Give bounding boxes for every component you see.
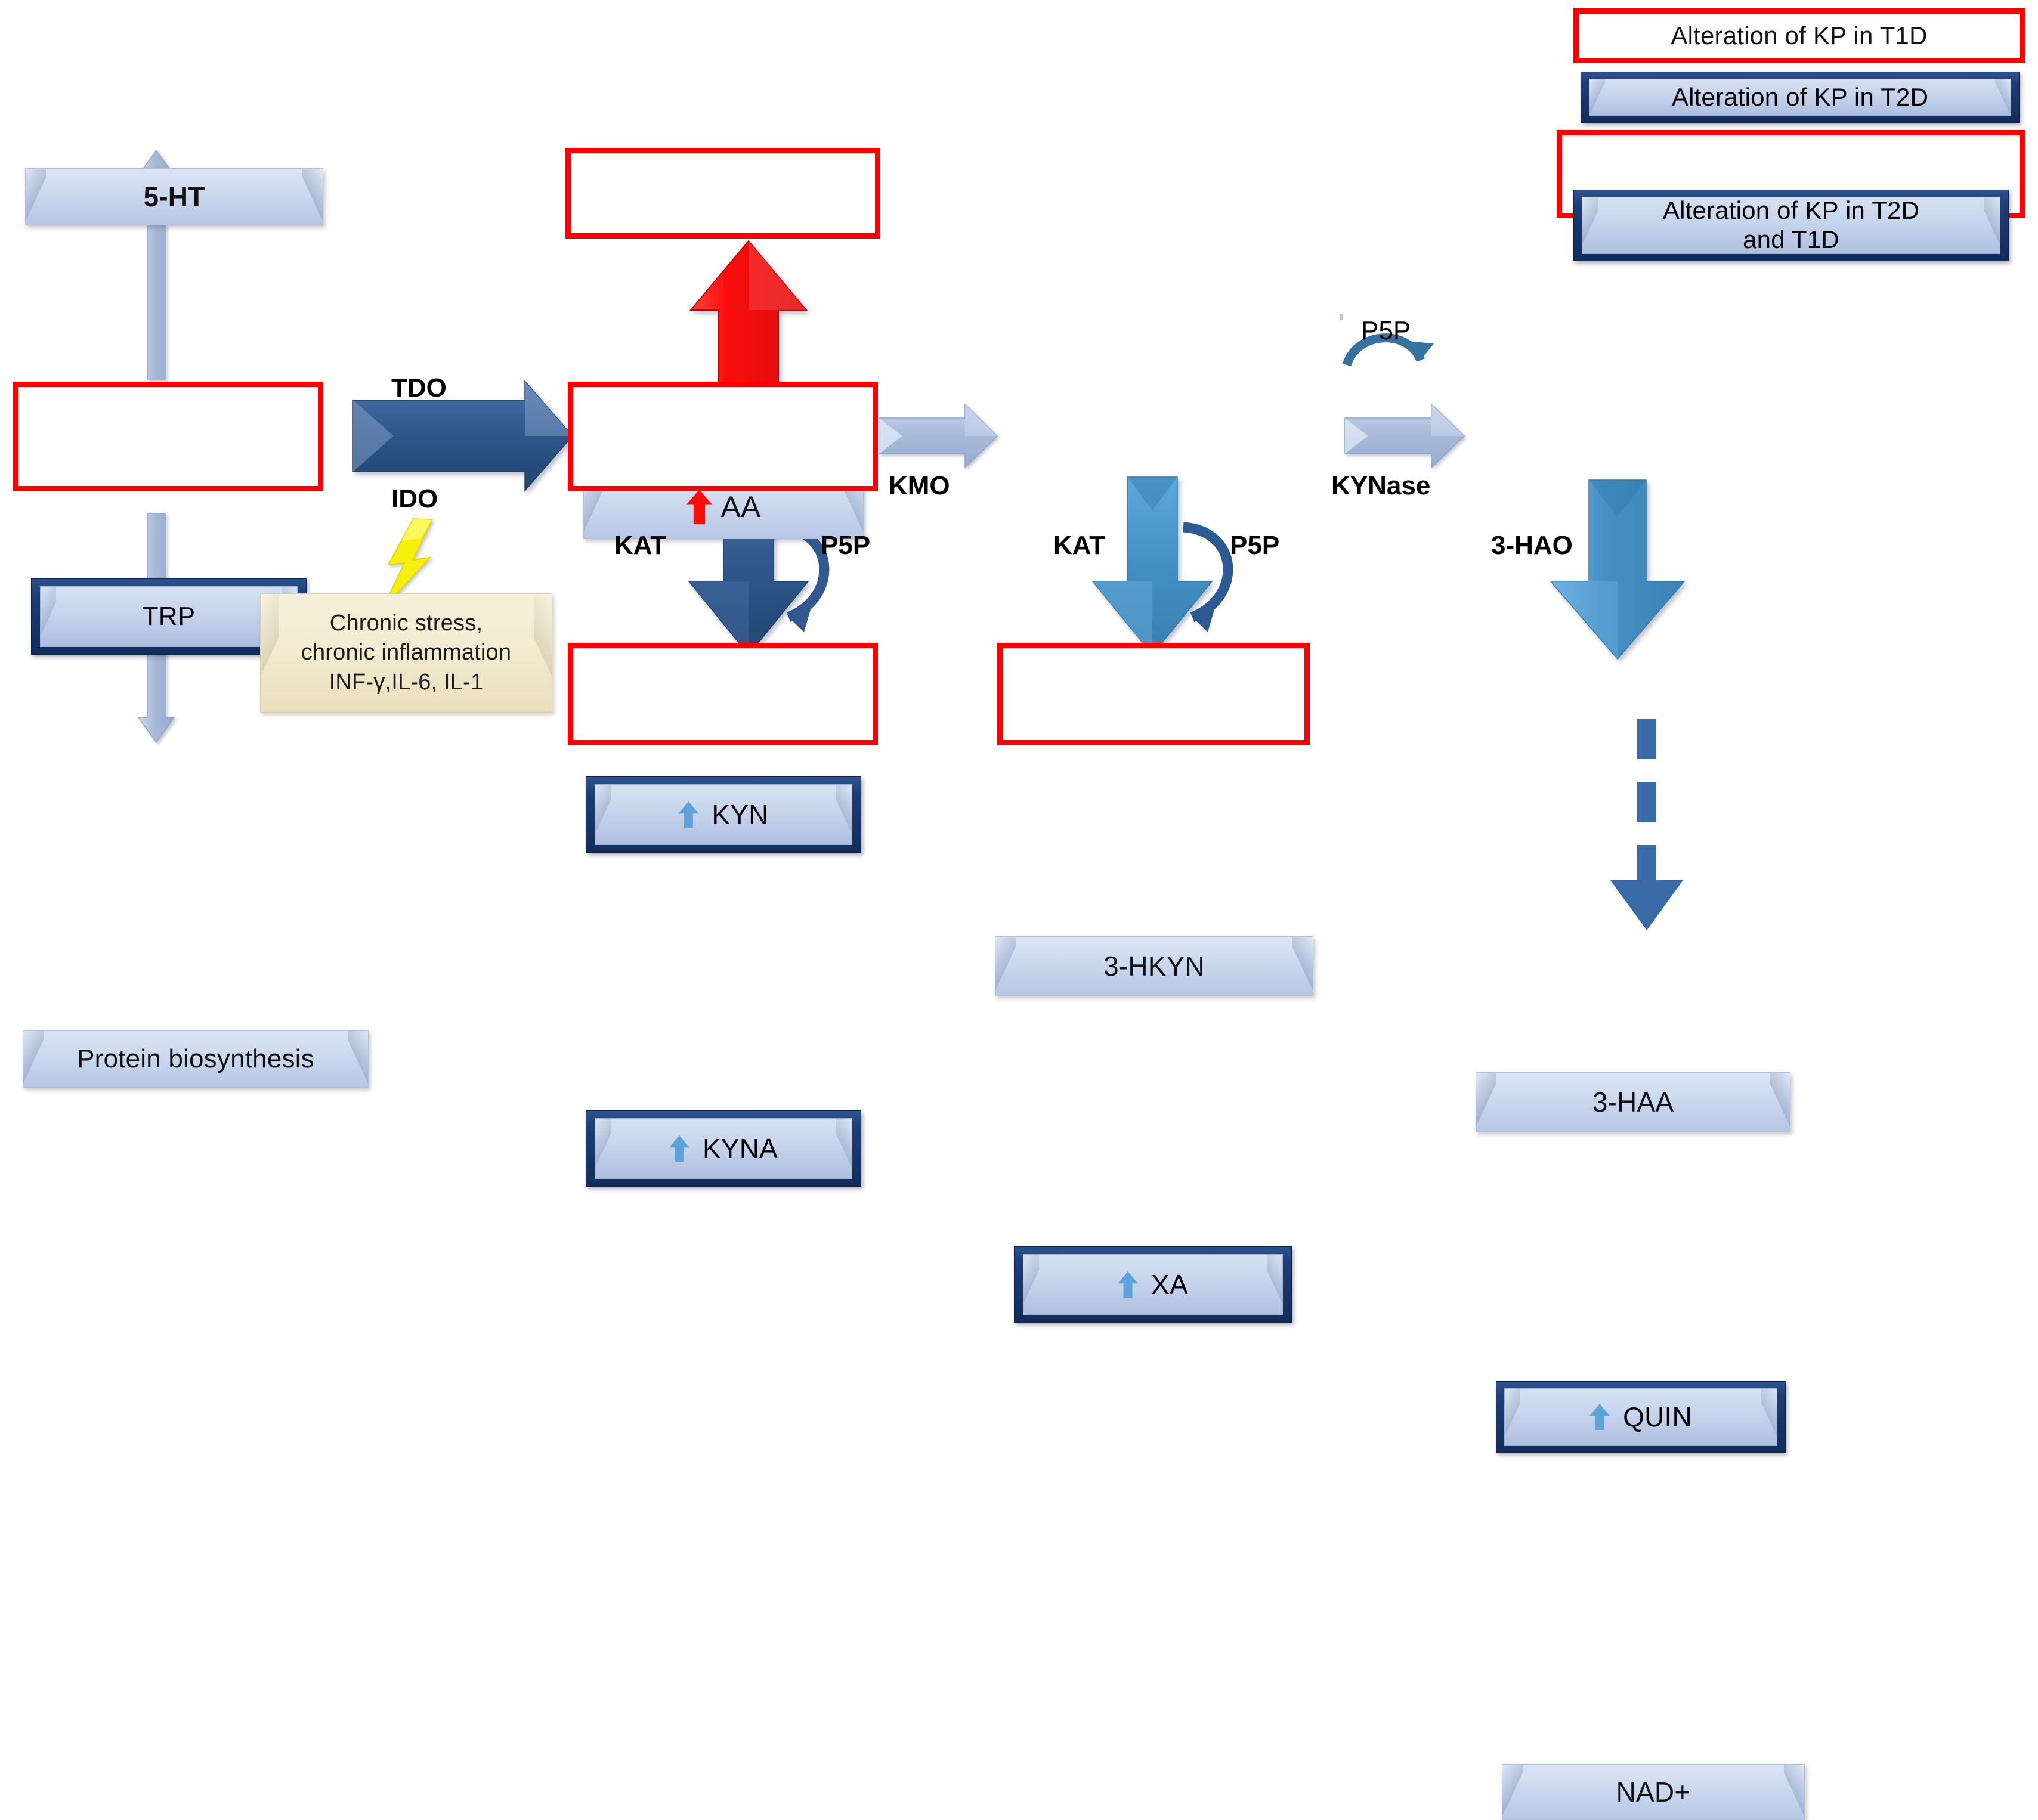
node-xa: XA [1014, 1246, 1292, 1323]
enzyme-label-p5p-right: P5P [1361, 316, 1411, 346]
legend-item-t1d-label: Alteration of KP in T1D [1671, 21, 1927, 50]
arc-p5p-left [780, 527, 824, 632]
enzyme-label-kat-mid: KAT [1053, 531, 1105, 561]
node-aa-highlight [565, 148, 880, 239]
callout-chronic-stress: Chronic stress, chronic inflammation INF… [260, 593, 552, 713]
up-arrow-icon [678, 801, 698, 828]
node-kyn-highlight [568, 382, 878, 491]
arc-p5p-mid [1183, 527, 1228, 632]
arrow-hao-haa-to-quin [1551, 480, 1684, 659]
arrow-kmo-kyn-to-hkyn [879, 404, 997, 468]
arrow-kyn-to-aa-red [691, 241, 806, 398]
pathway-diagram-canvas: Alteration of KP in T1D Alteration of KP… [0, 0, 2038, 1057]
node-quin-label: QUIN [1623, 1401, 1692, 1433]
legend-item-both-label-line2: and T1D [1743, 225, 1839, 255]
callout-line-1: Chronic stress, [330, 609, 483, 638]
enzyme-label-p5p-mid: P5P [1230, 531, 1279, 561]
node-3haa: 3-HAA [1476, 1072, 1790, 1132]
node-kyna: KYNA [586, 1110, 861, 1187]
node-kyn: KYN [586, 776, 861, 853]
enzyme-label-tdo: TDO [391, 373, 447, 403]
node-nad: NAD+ [1502, 1764, 1805, 1820]
up-arrow-icon [686, 490, 712, 524]
node-nad-label: NAD+ [1616, 1776, 1691, 1808]
legend-item-t1d: Alteration of KP in T1D [1573, 8, 2025, 63]
node-5ht: 5-HT [25, 168, 323, 225]
enzyme-label-kat-left: KAT [614, 531, 666, 561]
enzyme-label-3hao: 3-HAO [1491, 531, 1573, 561]
arrow-quin-to-nad-dashed [1610, 719, 1683, 930]
enzyme-label-kynase: KYNase [1331, 471, 1430, 501]
node-protein-biosynthesis-label: Protein biosynthesis [77, 1044, 314, 1074]
callout-line-3: INF-γ,IL-6, IL-1 [329, 668, 484, 697]
node-5ht-label: 5-HT [143, 181, 205, 213]
speck [1340, 314, 1343, 320]
node-kyna-label: KYNA [703, 1132, 778, 1165]
legend-item-t2d-label: Alteration of KP in T2D [1672, 83, 1928, 112]
arrow-tdo-trp-to-kyn [353, 381, 573, 491]
node-kyn-label: KYN [712, 798, 768, 831]
enzyme-label-kmo: KMO [889, 471, 950, 501]
node-aa-label: AA [720, 490, 760, 524]
node-xa-highlight [997, 643, 1310, 745]
enzyme-label-p5p-left: P5P [821, 531, 870, 561]
node-protein-biosynthesis: Protein biosynthesis [23, 1030, 369, 1088]
legend-item-both-label-line1: Alteration of KP in T2D [1663, 196, 1919, 225]
node-xa-label: XA [1151, 1268, 1188, 1301]
arrow-kat-hkyn-to-xa [1093, 477, 1212, 655]
enzyme-label-ido: IDO [391, 484, 438, 514]
node-3haa-label: 3-HAA [1592, 1086, 1674, 1118]
up-arrow-icon [1589, 1404, 1610, 1430]
callout-line-2: chronic inflammation [301, 638, 511, 667]
node-quin: QUIN [1496, 1381, 1786, 1453]
node-3hkyn-label: 3-HKYN [1103, 950, 1205, 982]
node-3hkyn: 3-HKYN [995, 936, 1313, 996]
node-trp-label: TRP [143, 602, 196, 632]
up-arrow-icon [669, 1135, 689, 1162]
arrow-kynase-hkyn-to-haa [1345, 404, 1464, 468]
up-arrow-icon [1118, 1271, 1138, 1298]
legend-item-t2d: Alteration of KP in T2D [1581, 72, 2020, 123]
node-trp-highlight [13, 382, 323, 491]
legend-item-both: Alteration of KP in T2D and T1D [1573, 190, 2009, 261]
node-kyna-highlight [568, 643, 878, 745]
